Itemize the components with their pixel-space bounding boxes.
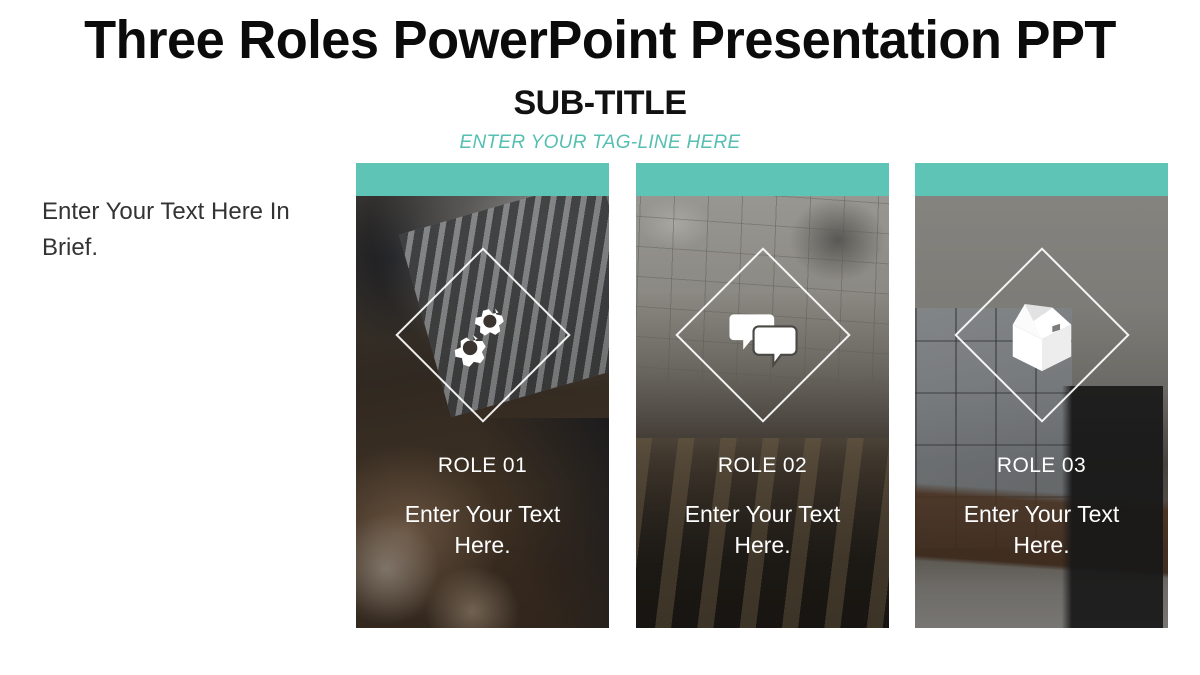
package-box-icon — [999, 292, 1085, 378]
speech-bubbles-icon — [720, 292, 806, 378]
presentation-slide: Three Roles PowerPoint Presentation PPT … — [0, 0, 1200, 675]
role-label: ROLE 03 — [915, 453, 1168, 479]
card-accent-bar — [915, 163, 1168, 196]
role-description: Enter Your Text Here. — [356, 499, 609, 561]
card-accent-bar — [356, 163, 609, 196]
sub-title: SUB-TITLE — [0, 82, 1200, 124]
card-caption: ROLE 01 Enter Your Text Here. — [356, 453, 609, 561]
role-card-3[interactable]: ROLE 03 Enter Your Text Here. — [915, 163, 1168, 628]
brief-text: Enter Your Text Here In Brief. — [42, 194, 304, 266]
role-label: ROLE 02 — [636, 453, 889, 479]
card-caption: ROLE 02 Enter Your Text Here. — [636, 453, 889, 561]
page-title: Three Roles PowerPoint Presentation PPT — [18, 8, 1182, 72]
gears-icon — [440, 292, 526, 378]
role-label: ROLE 01 — [356, 453, 609, 479]
card-accent-bar — [636, 163, 889, 196]
role-description: Enter Your Text Here. — [636, 499, 889, 561]
tag-line: ENTER YOUR TAG-LINE HERE — [0, 131, 1200, 155]
role-description: Enter Your Text Here. — [915, 499, 1168, 561]
role-card-2[interactable]: ROLE 02 Enter Your Text Here. — [636, 163, 889, 628]
card-caption: ROLE 03 Enter Your Text Here. — [915, 453, 1168, 561]
role-card-1[interactable]: ROLE 01 Enter Your Text Here. — [356, 163, 609, 628]
